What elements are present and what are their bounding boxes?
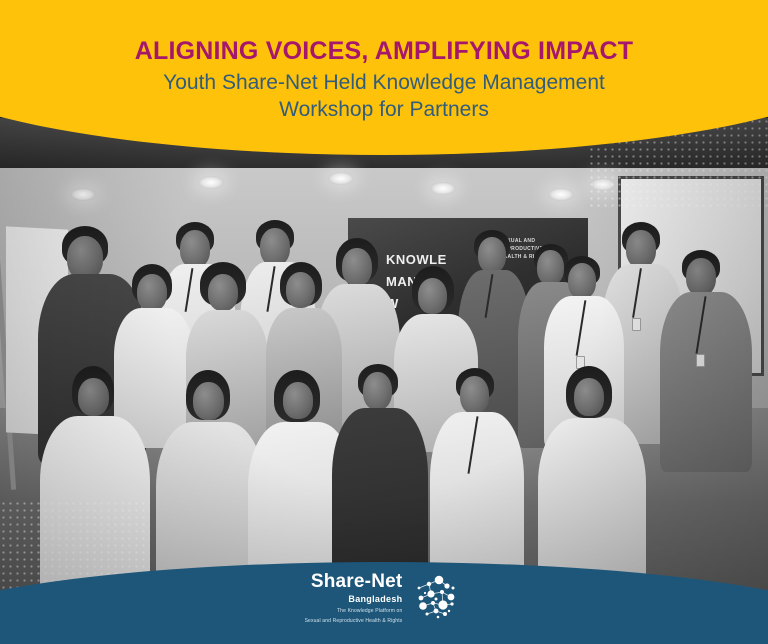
share-net-logo[interactable]: Share-Net Bangladesh The Knowledge Platf…	[305, 569, 464, 629]
header-content: ALIGNING VOICES, AMPLIFYING IMPACT Youth…	[0, 0, 768, 155]
logo-country: Bangladesh	[305, 593, 403, 605]
page-title: ALIGNING VOICES, AMPLIFYING IMPACT	[135, 36, 633, 66]
footer-content: Share-Net Bangladesh The Knowledge Platf…	[0, 559, 768, 644]
subtitle-line-1: Youth Share-Net Held Knowledge Managemen…	[163, 69, 605, 96]
network-dots-icon	[409, 570, 463, 629]
logo-tagline-line-2: Sexual and Reproductive Health & Rights	[305, 618, 403, 625]
logo-tagline-line-1: The Knowledge Platform on	[305, 608, 403, 615]
subtitle-line-2: Workshop for Partners	[163, 96, 605, 123]
promo-card: KNOWLE MANAGE W SEXUAL AND REPRODUCTIVE …	[0, 0, 768, 644]
page-subtitle: Youth Share-Net Held Knowledge Managemen…	[163, 69, 605, 123]
logo-wordmark: Share-Net	[305, 571, 403, 592]
logo-wordmark-block: Share-Net Bangladesh The Knowledge Platf…	[305, 569, 403, 625]
